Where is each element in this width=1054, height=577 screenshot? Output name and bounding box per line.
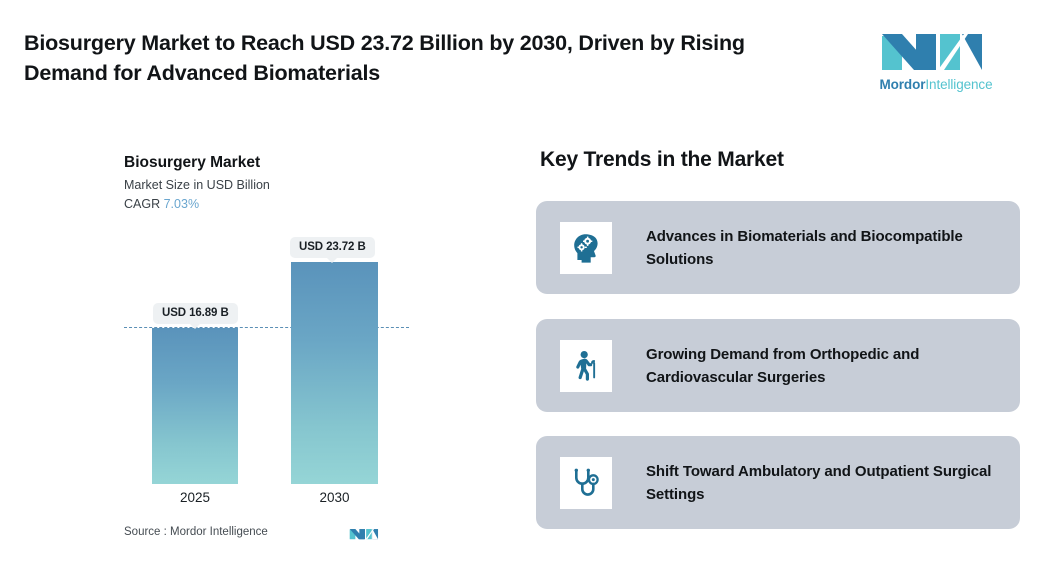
mordor-logo-mark <box>876 22 996 74</box>
trend-card-ambulatory-outpatient[interactable]: Shift Toward Ambulatory and Outpatient S… <box>536 436 1020 529</box>
page-title: Biosurgery Market to Reach USD 23.72 Bil… <box>24 28 784 88</box>
logo-word-secondary: Intelligence <box>925 77 992 92</box>
logo-word-primary: Mordor <box>879 77 925 92</box>
key-trends-panel: Key Trends in the Market Advances in Bio… <box>536 140 1026 560</box>
elderly-person-with-cane-icon <box>560 340 612 392</box>
chart-source-text: Source : Mordor Intelligence <box>124 526 268 538</box>
head-with-gears-icon <box>560 222 612 274</box>
trend-card-biomaterials[interactable]: Advances in Biomaterials and Biocompatib… <box>536 201 1020 294</box>
trend-label: Growing Demand from Orthopedic and Cardi… <box>646 343 1020 389</box>
page-header: Biosurgery Market to Reach USD 23.72 Bil… <box>0 0 1054 118</box>
x-axis-tick-2025: 2025 <box>152 490 238 505</box>
stethoscope-icon <box>560 457 612 509</box>
trend-label: Shift Toward Ambulatory and Outpatient S… <box>646 460 1020 506</box>
bar-chart-plot-area: USD 16.89 B USD 23.72 B 2025 2030 <box>0 140 470 560</box>
bar-2025 <box>152 328 238 484</box>
chart-panel: Biosurgery Market Market Size in USD Bil… <box>0 140 470 560</box>
trend-label: Advances in Biomaterials and Biocompatib… <box>646 225 1020 271</box>
bar-value-label-2030: USD 23.72 B <box>290 237 375 258</box>
mordor-logo-mark-small <box>348 523 382 543</box>
x-axis-tick-2030: 2030 <box>291 490 378 505</box>
key-trends-heading: Key Trends in the Market <box>540 148 784 172</box>
chart-source-row: Source : Mordor Intelligence <box>124 523 414 547</box>
bar-2030 <box>291 262 378 484</box>
bar-value-label-2025: USD 16.89 B <box>153 303 238 324</box>
mordor-logo-wordmark: MordorIntelligence <box>876 77 996 92</box>
mordor-intelligence-logo: MordorIntelligence <box>876 22 996 96</box>
trend-card-orthopedic-cardiovascular[interactable]: Growing Demand from Orthopedic and Cardi… <box>536 319 1020 412</box>
